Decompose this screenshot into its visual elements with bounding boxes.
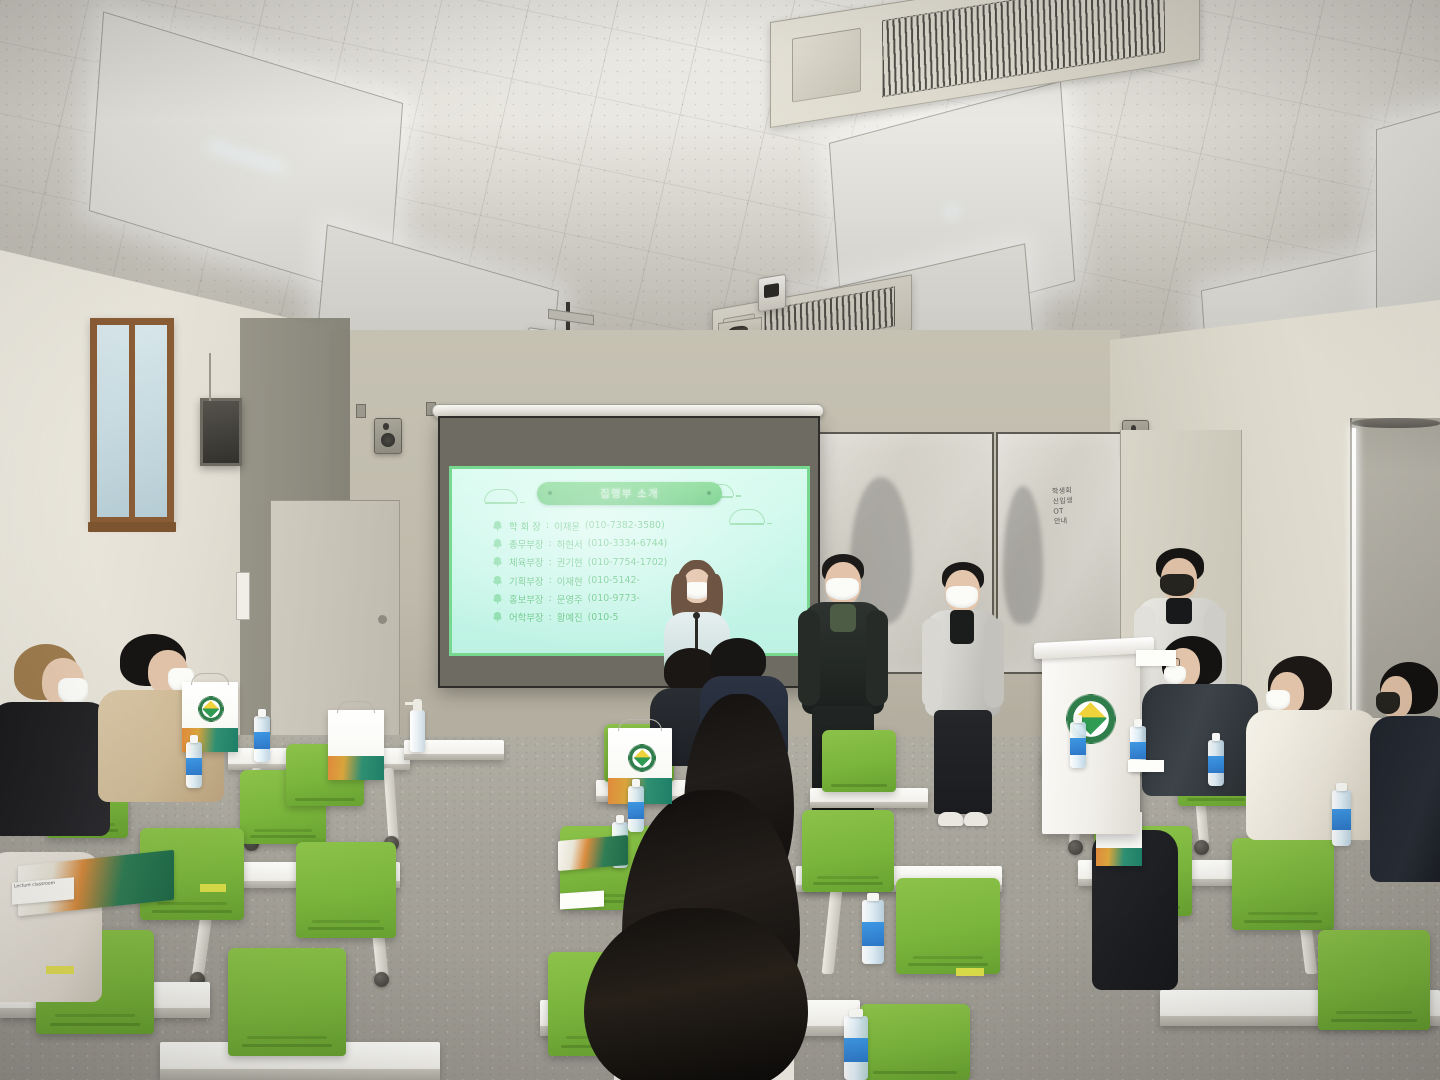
cloud-icon — [484, 489, 518, 502]
roster-row: 홍보부장 : 문영주 (010-9773- — [491, 592, 793, 606]
desk-tag — [200, 884, 226, 892]
university-emblem — [628, 744, 656, 772]
inner-shirt — [950, 610, 974, 644]
roster-sep: : — [546, 520, 549, 531]
chair[interactable] — [860, 1004, 970, 1080]
seated-student-right-c — [1374, 662, 1440, 902]
desk-caster — [1194, 840, 1209, 855]
student-arm — [922, 618, 942, 708]
gift-bag — [328, 710, 384, 780]
face-mask — [946, 586, 978, 608]
roster-role: 체육부장 — [509, 555, 544, 569]
lectern — [1042, 648, 1140, 834]
speaker-woofer — [381, 433, 395, 447]
classroom-photo: 학생회 신입생 OT 안내 집행부 소개 — [0, 0, 1440, 1080]
banner-dot-right — [707, 491, 711, 495]
roster-role: 어학부장 — [509, 610, 544, 624]
face-mask — [58, 678, 88, 704]
speaker-tweeter — [383, 423, 389, 429]
slide-title-banner: 집행부 소개 — [537, 482, 722, 505]
chair[interactable] — [1318, 930, 1430, 1030]
tree-icon — [491, 538, 504, 550]
roster-row: 체육부장 : 권기현 (010-7754-1702) — [491, 555, 793, 569]
roster-sep: : — [549, 557, 552, 568]
hand-sanitizer-bottle — [410, 710, 425, 752]
lectern-paper — [1136, 650, 1176, 666]
tree-icon — [491, 556, 504, 568]
window-mullion — [129, 325, 135, 517]
tree-icon — [491, 593, 504, 605]
tree-icon — [491, 611, 504, 623]
sanitizer-nozzle — [405, 702, 414, 705]
roster-name: 이재윤 — [554, 519, 580, 533]
student-arm — [984, 618, 1004, 708]
bag-handle — [337, 701, 375, 713]
desk-caster — [374, 972, 389, 987]
desk-caster — [1068, 840, 1083, 855]
face-mask — [1164, 666, 1186, 684]
bag-color-band — [1096, 848, 1142, 866]
roster-row: 총무부장 : 하현서 (010-3334-6744) — [491, 537, 793, 551]
roster-name: 이재현 — [557, 574, 583, 588]
face-mask — [1266, 690, 1290, 710]
desk-tag — [46, 966, 74, 974]
water-bottle — [186, 742, 202, 788]
bag-handle — [618, 719, 662, 731]
water-bottle — [1208, 740, 1224, 786]
roster-name: 황예진 — [557, 610, 583, 624]
roster-role: 홍보부장 — [509, 592, 544, 606]
roster-role: 학 회 장 — [509, 519, 541, 533]
student-torso — [1246, 710, 1378, 840]
blind-headrail — [1352, 418, 1440, 428]
microphone-icon — [693, 612, 700, 619]
student-arm — [798, 610, 820, 706]
water-bottle — [1070, 722, 1086, 768]
window-sill — [88, 522, 176, 532]
desk-paper — [1128, 760, 1164, 772]
face-mask — [826, 578, 859, 600]
roster-phone: (010-5142- — [588, 575, 640, 586]
chair[interactable] — [228, 948, 346, 1056]
desk-paper — [560, 890, 604, 909]
water-bottle — [844, 1016, 868, 1080]
roster-name: 문영주 — [557, 592, 583, 606]
water-bottle — [628, 786, 644, 832]
roster-row: 학 회 장 : 이재윤 (010-7382-3580) — [491, 519, 793, 533]
wall-speaker-left — [374, 418, 402, 454]
chair[interactable] — [296, 842, 396, 938]
gift-box — [558, 835, 628, 871]
seated-student-front-c — [584, 908, 814, 1080]
roster-sep: : — [549, 575, 552, 586]
student-torso — [0, 702, 110, 836]
inner-shirt — [1166, 598, 1192, 624]
banner-dot-left — [548, 491, 552, 495]
roster-sep: : — [549, 593, 552, 604]
student-arm — [866, 610, 888, 706]
face-mask — [1376, 692, 1400, 714]
door-knob-icon[interactable] — [378, 615, 387, 624]
student-shoe — [938, 812, 964, 826]
tree-icon — [491, 575, 504, 587]
chair[interactable] — [802, 810, 894, 892]
slide-title: 집행부 소개 — [600, 486, 659, 501]
student-torso — [1370, 716, 1440, 882]
standing-student-2 — [920, 562, 1006, 828]
roster-role: 총무부장 — [509, 537, 544, 551]
student-legs — [934, 710, 992, 814]
water-bottle — [862, 900, 884, 964]
face-mask — [1160, 574, 1194, 596]
seated-student-left-a — [0, 644, 110, 874]
left-window — [90, 318, 174, 524]
roster-row: 기획부장 : 이재현 (010-5142- — [491, 574, 793, 588]
roster-phone: (010-9773- — [588, 593, 640, 604]
student-shoe — [964, 812, 988, 826]
roster-name: 권기현 — [557, 555, 583, 569]
inner-shirt — [830, 604, 856, 632]
desk-tag — [956, 968, 984, 976]
slide-roster-list: 학 회 장 : 이재윤 (010-7382-3580) 총무부장 : 하현서 (… — [491, 519, 793, 646]
water-bottle — [1332, 790, 1351, 846]
tree-icon — [491, 520, 504, 532]
whiteboard-right: 학생회 신입생 OT 안내 — [996, 432, 1124, 674]
roster-phone: (010-7754-1702) — [588, 557, 668, 568]
roster-name: 하현서 — [557, 537, 583, 551]
water-bottle — [254, 716, 270, 762]
seated-student-right-b — [1240, 656, 1380, 886]
whiteboard-writing: 학생회 신입생 OT 안내 — [1051, 486, 1074, 528]
wall-mounted-monitor — [200, 398, 242, 466]
speaker-bracket — [356, 404, 366, 418]
roster-phone: (010-5 — [588, 612, 619, 623]
roster-sep: : — [549, 538, 552, 549]
university-emblem — [198, 696, 224, 722]
roster-role: 기획부장 — [509, 574, 544, 588]
presentation-slide: 집행부 소개 학 회 장 : 이재윤 (010-7382-3580) — [449, 466, 810, 656]
window-pane — [97, 325, 129, 517]
window-pane — [135, 325, 167, 517]
roster-row: 어학부장 : 황예진 (010-5 — [491, 610, 793, 624]
bag-color-band — [328, 756, 384, 780]
roster-phone: (010-7382-3580) — [585, 520, 665, 531]
wall-notice-sign — [236, 572, 250, 620]
chair[interactable] — [822, 730, 896, 792]
name-card-text: Lecture classroom — [14, 881, 55, 890]
monitor-cable — [209, 353, 211, 401]
roster-sep: : — [549, 612, 552, 623]
student-long-hair — [584, 908, 808, 1080]
sanitizer-pump — [413, 699, 422, 711]
roster-phone: (010-3334-6744) — [588, 538, 668, 549]
chair[interactable] — [896, 878, 1000, 974]
bag-handle — [191, 673, 229, 685]
